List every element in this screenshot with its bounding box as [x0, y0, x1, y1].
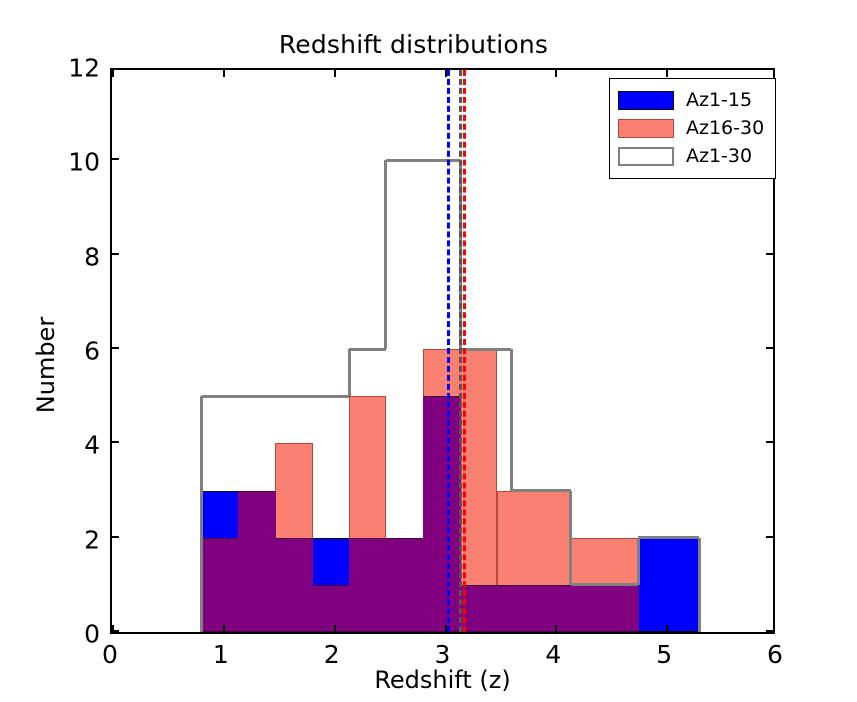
y-tick-left-4 [112, 253, 119, 255]
median-Az16-30-line [463, 70, 466, 632]
outline-top-6 [638, 536, 699, 539]
x-tick-label-4: 4 [545, 640, 561, 669]
y-tick-left-5 [112, 158, 119, 160]
az1-15-bar-bin-5 [638, 538, 699, 632]
outline-step-4 [569, 491, 572, 585]
outline-rise-start [200, 396, 203, 632]
overlap-region-6 [423, 396, 460, 632]
legend-label-az1-15: Az1-15 [686, 89, 752, 111]
chart-figure: Redshift distributions 0123456024681012 … [0, 0, 857, 702]
legend-swatch-az16-30 [618, 119, 674, 138]
x-axis-label-text: Redshift (z) [374, 666, 510, 694]
x-tick-label-6: 6 [767, 640, 783, 669]
y-tick-right-1 [766, 536, 773, 538]
y-tick-label-1: 2 [54, 525, 100, 554]
chart-title: Redshift distributions [0, 30, 857, 59]
x-tick-top-5 [666, 70, 668, 77]
x-tick-label-2: 2 [324, 640, 340, 669]
y-tick-label-6: 12 [54, 54, 100, 83]
y-axis-label: Number [32, 275, 60, 455]
legend-swatch-az1-30 [618, 147, 674, 166]
y-tick-left-3 [112, 347, 119, 349]
x-tick-bottom-4 [555, 625, 557, 632]
y-tick-label-5: 10 [54, 148, 100, 177]
x-tick-top-0 [112, 70, 114, 77]
median-Az1-15-line [447, 70, 450, 632]
overlap-region-3 [313, 585, 350, 632]
outline-step-5 [637, 538, 640, 585]
x-tick-label-5: 5 [656, 640, 672, 669]
legend-swatch-az1-15 [618, 91, 674, 110]
overlap-region-8 [497, 585, 572, 632]
y-tick-right-4 [766, 253, 773, 255]
overlap-region-0 [202, 538, 239, 632]
outline-top-1 [349, 348, 386, 351]
outline-step-1 [384, 160, 387, 349]
outline-step-3 [510, 349, 513, 491]
x-tick-top-4 [555, 70, 557, 77]
y-tick-right-3 [766, 347, 773, 349]
y-axis-label-text: Number [32, 317, 60, 413]
legend-item-az1-15: Az1-15 [618, 86, 767, 114]
outline-top-4 [511, 489, 571, 492]
legend: Az1-15 Az16-30 Az1-30 [609, 78, 776, 179]
x-tick-bottom-1 [223, 625, 225, 632]
overlap-region-5 [386, 538, 424, 632]
x-tick-label-1: 1 [213, 640, 229, 669]
y-tick-label-4: 8 [54, 242, 100, 271]
overlap-region-1 [238, 491, 275, 633]
y-tick-label-3: 6 [54, 337, 100, 366]
outline-fall-end [698, 538, 701, 632]
x-tick-label-3: 3 [435, 640, 451, 669]
legend-label-az16-30: Az16-30 [686, 117, 764, 139]
x-tick-top-2 [334, 70, 336, 77]
outline-step-0 [348, 349, 351, 396]
x-axis-label: Redshift (z) [110, 666, 775, 694]
y-tick-label-2: 4 [54, 431, 100, 460]
outline-top-5 [571, 583, 639, 586]
x-tick-top-1 [223, 70, 225, 77]
x-tick-top-3 [445, 70, 447, 77]
overlap-region-4 [349, 538, 386, 632]
overlap-region-9 [571, 585, 639, 632]
y-tick-label-0: 0 [54, 620, 100, 649]
legend-item-az1-30: Az1-30 [618, 142, 767, 170]
y-tick-left-1 [112, 536, 119, 538]
y-tick-left-0 [112, 630, 119, 632]
x-tick-bottom-3 [445, 625, 447, 632]
median-Az1-30-line [459, 70, 462, 632]
legend-item-az16-30: Az16-30 [618, 114, 767, 142]
x-tick-bottom-5 [666, 625, 668, 632]
y-tick-right-2 [766, 441, 773, 443]
x-tick-label-0: 0 [102, 640, 118, 669]
outline-top-0 [202, 395, 349, 398]
outline-top-3 [460, 348, 511, 351]
legend-label-az1-30: Az1-30 [686, 145, 752, 167]
y-tick-right-0 [766, 630, 773, 632]
overlap-region-2 [275, 538, 313, 632]
chart-title-text: Redshift distributions [279, 30, 548, 59]
y-tick-left-2 [112, 441, 119, 443]
x-tick-bottom-2 [334, 625, 336, 632]
